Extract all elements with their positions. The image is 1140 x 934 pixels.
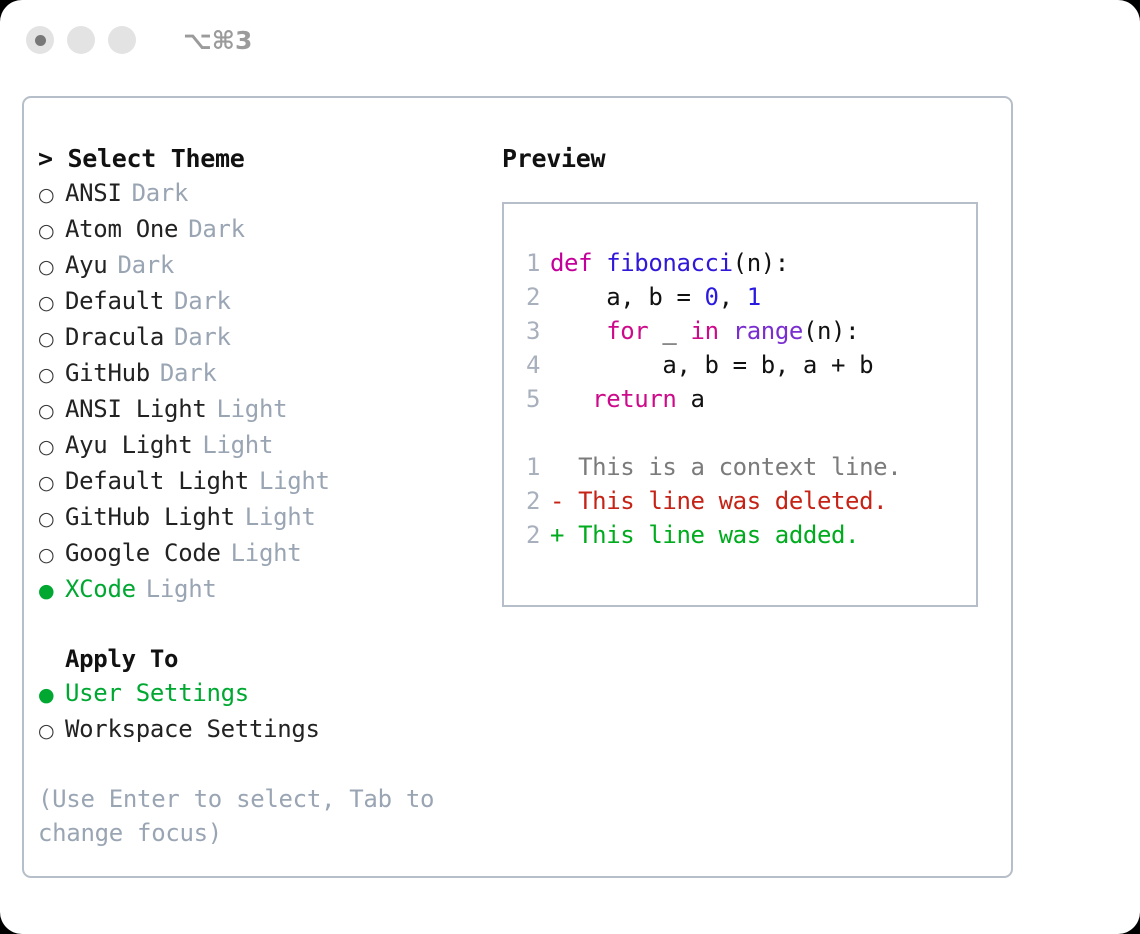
code-line-number: 2 (516, 280, 540, 314)
theme-variant-tag: Dark (160, 356, 217, 390)
radio-unselected-icon: ○ (38, 394, 65, 428)
diff-text: This line was added. (578, 521, 859, 549)
theme-option-ayu[interactable]: ○AyuDark (38, 248, 488, 284)
list-spacer (38, 608, 488, 642)
theme-name: GitHub (65, 356, 150, 390)
blank-dot-1-icon[interactable] (67, 26, 95, 54)
diff-marker (550, 453, 578, 481)
diff-line: 2+ This line was added. (516, 518, 976, 552)
radio-unselected-icon: ○ (38, 358, 65, 392)
theme-name: Dracula (65, 320, 164, 354)
radio-selected-icon: ● (38, 678, 65, 712)
diff-line: 1 This is a context line. (516, 450, 976, 484)
code-token: fibonacci (606, 249, 732, 277)
code-line: 4 a, b = b, a + b (516, 348, 976, 382)
diff-line-number: 2 (516, 518, 540, 552)
code-token: in (691, 317, 719, 345)
radio-selected-icon: ● (38, 574, 65, 608)
code-token: a (676, 385, 704, 413)
theme-name: Default (65, 284, 164, 318)
code-token: _ (648, 317, 690, 345)
theme-variant-tag: Light (146, 572, 217, 606)
apply-to-list: ●User Settings○Workspace Settings (38, 676, 488, 748)
radio-unselected-icon: ○ (38, 214, 65, 248)
theme-option-github[interactable]: ○GitHubDark (38, 356, 488, 392)
apply-to-label: Workspace Settings (65, 712, 320, 746)
theme-name: Google Code (65, 536, 221, 570)
theme-option-dracula[interactable]: ○DraculaDark (38, 320, 488, 356)
record-dot-icon[interactable] (26, 26, 54, 54)
theme-name: Ayu (65, 248, 107, 282)
radio-unselected-icon: ○ (38, 250, 65, 284)
theme-name: Default Light (65, 464, 249, 498)
theme-variant-tag: Light (217, 392, 288, 426)
theme-list: ○ANSIDark○Atom OneDark○AyuDark○DefaultDa… (38, 176, 488, 608)
code-token: 0 (705, 283, 719, 311)
diff-line: 2- This line was deleted. (516, 484, 976, 518)
theme-option-github-light[interactable]: ○GitHub LightLight (38, 500, 488, 536)
window-titlebar: ⌥⌘3 (0, 0, 1140, 80)
diff-marker: - (550, 487, 578, 515)
diff-line-number: 1 (516, 450, 540, 484)
diff-line-number: 2 (516, 484, 540, 518)
code-token: a, b = (550, 283, 705, 311)
radio-unselected-icon: ○ (38, 430, 65, 464)
theme-variant-tag: Dark (174, 284, 231, 318)
diff-text: This line was deleted. (578, 487, 887, 515)
radio-unselected-icon: ○ (38, 178, 65, 212)
theme-name: Ayu Light (65, 428, 192, 462)
theme-variant-tag: Light (202, 428, 273, 462)
code-line: 5 return a (516, 382, 976, 416)
theme-variant-tag: Dark (174, 320, 231, 354)
radio-unselected-icon: ○ (38, 322, 65, 356)
theme-variant-tag: Light (245, 500, 316, 534)
theme-name: ANSI Light (65, 392, 207, 426)
code-token: , (719, 283, 747, 311)
theme-selector-column: > Select Theme ○ANSIDark○Atom OneDark○Ay… (38, 142, 488, 850)
blank-dot-2-icon[interactable] (108, 26, 136, 54)
radio-unselected-icon: ○ (38, 714, 65, 748)
apply-to-option-workspace-settings[interactable]: ○Workspace Settings (38, 712, 488, 748)
code-token (550, 385, 592, 413)
apply-to-header: Apply To (38, 642, 488, 676)
radio-unselected-icon: ○ (38, 466, 65, 500)
preview-box: 1def fibonacci(n):2 a, b = 0, 13 for _ i… (502, 202, 978, 607)
diff-text: This is a context line. (578, 453, 901, 481)
theme-option-ayu-light[interactable]: ○Ayu LightLight (38, 428, 488, 464)
theme-variant-tag: Dark (117, 248, 174, 282)
code-line: 1def fibonacci(n): (516, 246, 976, 280)
code-line-number: 5 (516, 382, 540, 416)
theme-variant-tag: Dark (132, 176, 189, 210)
theme-variant-tag: Light (231, 536, 302, 570)
code-token: (n): (733, 249, 789, 277)
app-window: ⌥⌘3 > Select Theme ○ANSIDark○Atom OneDar… (0, 0, 1140, 934)
code-line-number: 3 (516, 314, 540, 348)
radio-unselected-icon: ○ (38, 538, 65, 572)
theme-name: Atom One (65, 212, 178, 246)
code-token: (n): (803, 317, 859, 345)
apply-to-option-user-settings[interactable]: ●User Settings (38, 676, 488, 712)
diff-marker: + (550, 521, 578, 549)
diff-sample: 1 This is a context line.2- This line wa… (516, 450, 976, 552)
theme-option-default[interactable]: ○DefaultDark (38, 284, 488, 320)
keyboard-hint: (Use Enter to select, Tab to change focu… (38, 782, 438, 850)
code-token: def (550, 249, 606, 277)
theme-option-ansi-light[interactable]: ○ANSI LightLight (38, 392, 488, 428)
preview-header: Preview (502, 142, 1002, 176)
code-token (550, 317, 606, 345)
theme-name: XCode (65, 572, 136, 606)
theme-option-google-code[interactable]: ○Google CodeLight (38, 536, 488, 572)
code-line: 2 a, b = 0, 1 (516, 280, 976, 314)
code-line-number: 1 (516, 246, 540, 280)
main-panel: > Select Theme ○ANSIDark○Atom OneDark○Ay… (22, 96, 1013, 878)
theme-option-ansi[interactable]: ○ANSIDark (38, 176, 488, 212)
code-token (719, 317, 733, 345)
theme-option-atom-one[interactable]: ○Atom OneDark (38, 212, 488, 248)
code-diff-gap (516, 416, 976, 450)
select-theme-header: > Select Theme (38, 142, 488, 176)
theme-variant-tag: Light (259, 464, 330, 498)
theme-option-default-light[interactable]: ○Default LightLight (38, 464, 488, 500)
code-token: for (606, 317, 648, 345)
record-dot-inner (35, 35, 46, 46)
radio-unselected-icon: ○ (38, 286, 65, 320)
theme-name: GitHub Light (65, 500, 235, 534)
preview-column: Preview 1def fibonacci(n):2 a, b = 0, 13… (502, 142, 1002, 607)
radio-unselected-icon: ○ (38, 502, 65, 536)
theme-name: ANSI (65, 176, 122, 210)
code-sample: 1def fibonacci(n):2 a, b = 0, 13 for _ i… (516, 246, 976, 416)
code-line: 3 for _ in range(n): (516, 314, 976, 348)
code-token: a, b = b, a + b (550, 351, 873, 379)
code-token: 1 (747, 283, 761, 311)
theme-option-xcode[interactable]: ●XCodeLight (38, 572, 488, 608)
theme-variant-tag: Dark (188, 212, 245, 246)
keyboard-shortcut-label: ⌥⌘3 (183, 26, 252, 55)
code-line-number: 4 (516, 348, 540, 382)
apply-to-label: User Settings (65, 676, 249, 710)
code-token: range (733, 317, 803, 345)
code-token: return (592, 385, 676, 413)
